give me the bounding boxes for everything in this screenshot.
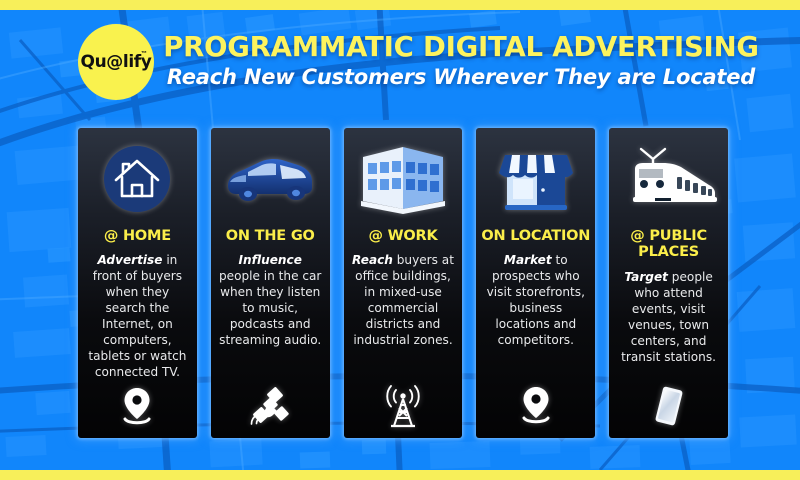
card-on-the-go-text: people in the car when they listen to mu… (219, 269, 321, 347)
card-on-location-text: to prospects who visit storefronts, busi… (487, 253, 585, 347)
map-pin-icon (120, 386, 154, 428)
card-public-places-body: Target people who attend events, visit v… (609, 270, 728, 380)
card-work-top-icon-slot (344, 136, 463, 222)
top-accent-bar (0, 0, 800, 10)
storefront-icon (497, 143, 575, 215)
channel-cards: @ HOME Advertise in front of buyers when… (78, 128, 728, 438)
house-icon (101, 143, 173, 215)
card-work-title: @ WORK (364, 228, 441, 244)
card-on-the-go-body: Influence people in the car when they li… (211, 253, 330, 380)
card-public-places[interactable]: @ PUBLIC PLACES Target people who attend… (609, 128, 728, 438)
logo-badge[interactable]: Qu@lify ™ (78, 24, 154, 100)
card-public-places-title: @ PUBLIC PLACES (609, 228, 728, 261)
card-on-the-go-bottom-icon-slot (211, 380, 330, 438)
card-work-lead: Reach (352, 253, 393, 267)
bottom-accent-bar (0, 470, 800, 480)
card-public-places-bottom-icon-slot (609, 380, 728, 438)
card-home-text: in front of buyers when they search the … (88, 253, 186, 379)
card-public-places-lead: Target (624, 270, 668, 284)
tablet-icon (649, 384, 689, 428)
card-on-location-top-icon-slot (476, 136, 595, 222)
card-work-body: Reach buyers at office buildings, in mix… (344, 253, 463, 380)
card-work-text: buyers at office buildings, in mixed-use… (353, 253, 454, 347)
card-public-places-top-icon-slot (609, 136, 728, 222)
card-home-body: Advertise in front of buyers when they s… (78, 253, 197, 381)
card-on-location-lead: Market (504, 253, 552, 267)
card-on-location[interactable]: ON LOCATION Market to prospects who visi… (476, 128, 595, 438)
card-work[interactable]: @ WORK Reach buyers at office buildings,… (344, 128, 463, 438)
page-subtitle: Reach New Customers Wherever They are Lo… (160, 63, 762, 91)
card-on-the-go-title: ON THE GO (222, 228, 319, 244)
card-on-the-go[interactable]: ON THE GO Influence people in the car wh… (211, 128, 330, 438)
card-on-location-title: ON LOCATION (477, 228, 594, 244)
card-home-lead: Advertise (97, 253, 162, 267)
cell-tower-icon (380, 384, 426, 428)
car-icon (222, 148, 318, 210)
card-on-the-go-top-icon-slot (211, 136, 330, 222)
header: Qu@lify ™ PROGRAMMATIC DIGITAL ADVERTISI… (0, 12, 800, 112)
page-title: PROGRAMMATIC DIGITAL ADVERTISING (160, 33, 762, 63)
train-icon (619, 145, 719, 213)
card-work-bottom-icon-slot (344, 380, 463, 438)
title-block: PROGRAMMATIC DIGITAL ADVERTISING Reach N… (154, 33, 800, 91)
card-home-bottom-icon-slot (78, 381, 197, 438)
office-building-icon (357, 143, 449, 215)
card-home-top-icon-slot (78, 136, 197, 222)
map-pin-icon (519, 385, 553, 427)
card-on-location-body: Market to prospects who visit storefront… (476, 253, 595, 380)
card-on-the-go-lead: Influence (238, 253, 301, 267)
card-home[interactable]: @ HOME Advertise in front of buyers when… (78, 128, 197, 438)
satellite-icon (249, 385, 291, 427)
card-home-title: @ HOME (100, 228, 175, 244)
logo-trademark: ™ (141, 51, 147, 57)
card-on-location-bottom-icon-slot (476, 380, 595, 438)
